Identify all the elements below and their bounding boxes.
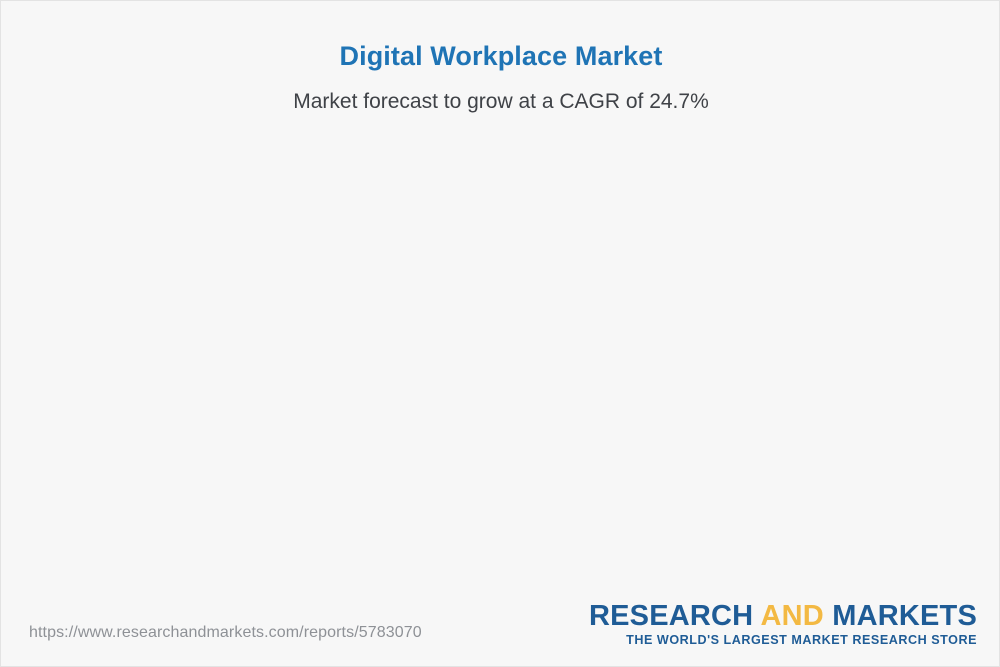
brand-logo-research: RESEARCH bbox=[589, 600, 761, 632]
chart-plot-area: USD 59.18 Billion 2025 USD 143.2 Billion bbox=[1, 1, 1000, 667]
source-url[interactable]: https://www.researchandmarkets.com/repor… bbox=[29, 624, 422, 642]
brand-logo-markets: MARKETS bbox=[824, 600, 977, 632]
infographic-canvas: Digital Workplace Market Market forecast… bbox=[0, 0, 1000, 667]
brand-logo-tagline: THE WORLD'S LARGEST MARKET RESEARCH STOR… bbox=[589, 633, 977, 647]
brand-logo-wordmark: RESEARCH AND MARKETS bbox=[589, 601, 977, 631]
brand-logo[interactable]: RESEARCH AND MARKETS THE WORLD'S LARGEST… bbox=[589, 601, 977, 647]
brand-logo-and: AND bbox=[761, 600, 824, 632]
